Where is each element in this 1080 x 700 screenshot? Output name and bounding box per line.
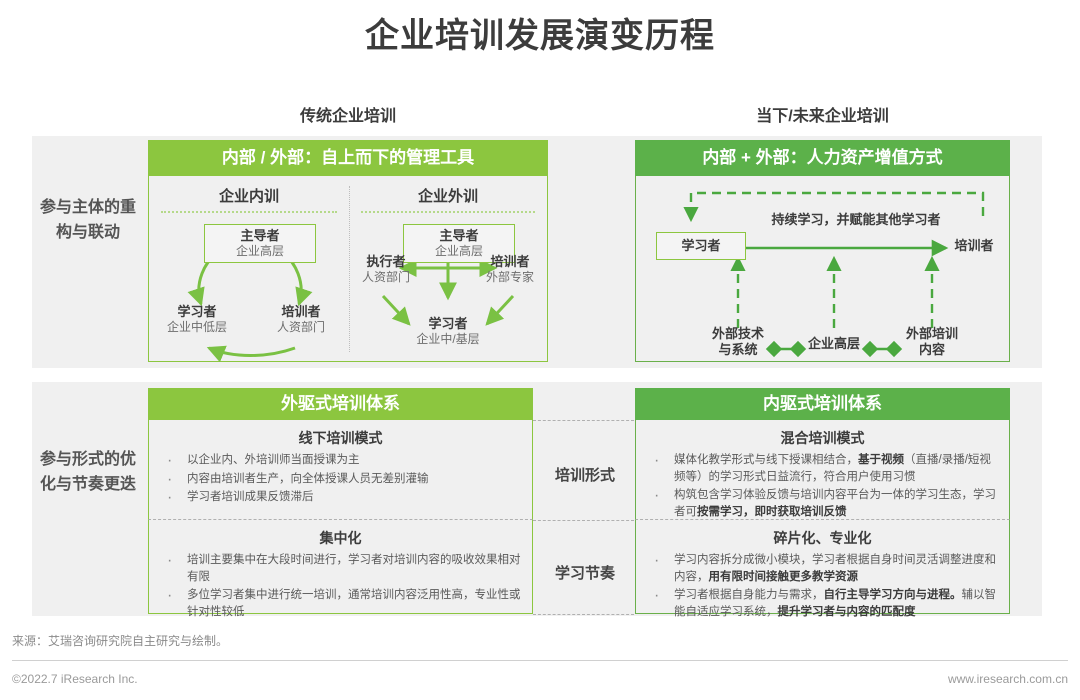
panel-future-training: 内部 + 外部：人力资产增值方式 — [635, 140, 1010, 362]
mid-divider-bottom — [533, 614, 634, 615]
bullet-list: 以企业内、外培训师当面授课为主内容由培训者生产，向全体授课人员无差别灌输学习者培… — [157, 452, 524, 506]
node-external-training-content: 外部培训 内容 — [892, 326, 972, 359]
cell-heading: 混合培训模式 — [644, 428, 1001, 448]
panel-traditional-training: 内部 / 外部：自上而下的管理工具 企业内训 — [148, 140, 548, 362]
cell-fragmented-specialized: 碎片化、专业化 学习内容拆分成微小模块，学习者根据自身时间灵活调整进度和内容，用… — [635, 520, 1010, 614]
bullet-item: 学习者根据自身能力与需求，自行主导学习方向与进程。辅以智能自适应学习系统，提升学… — [644, 587, 1001, 620]
source-note: 来源：艾瑞咨询研究院自主研究与绘制。 — [12, 632, 228, 649]
mid-label-learning-rhythm: 学习节奏 — [535, 562, 635, 583]
node-internal-trainer: 培训者 人资部门 — [257, 304, 345, 335]
node-enterprise-executives: 企业高层 — [794, 336, 874, 352]
annotation-continuous-learning: 持续学习，并赋能其他学习者 — [736, 212, 976, 228]
node-future-learner: 学习者 — [656, 232, 746, 260]
bullet-item: 学习内容拆分成微小模块，学习者根据自身时间灵活调整进度和内容，用有限时间接触更多… — [644, 552, 1001, 585]
internal-driven-header: 内驱式培训体系 — [635, 388, 1010, 420]
bullet-item: 构筑包含学习体验反馈与培训内容平台为一体的学习生态，学习者可按需学习，即时获取培… — [644, 487, 1001, 520]
dotted-separator — [161, 211, 337, 213]
infographic-page: 企业培训发展演变历程 传统企业培训 当下/未来企业培训 参与主体的重构与联动 参… — [0, 0, 1080, 700]
cell-heading: 线下培训模式 — [157, 428, 524, 448]
panel-internal-driven-system: 内驱式培训体系 混合培训模式 媒体化教学形式与线下授课相结合，基于视频（直播/录… — [635, 388, 1010, 614]
panel-future-header: 内部 + 外部：人力资产增值方式 — [635, 140, 1010, 176]
bullet-item: 媒体化教学形式与线下授课相结合，基于视频（直播/录播/短视频等）的学习形式日益流… — [644, 452, 1001, 485]
panel-future-body: 学习者 培训者 持续学习，并赋能其他学习者 外部技术 与系统 企业高层 外部培训… — [635, 176, 1010, 362]
bullet-item: 培训主要集中在大段时间进行，学习者对培训内容的吸收效果相对有限 — [157, 552, 524, 585]
node-external-learner: 学习者 企业中/基层 — [401, 316, 495, 347]
node-external-executor: 执行者 人资部门 — [349, 254, 423, 285]
mid-divider-top — [533, 420, 634, 421]
node-external-tech-systems: 外部技术 与系统 — [698, 326, 778, 359]
bullet-list: 媒体化教学形式与线下授课相结合，基于视频（直播/录播/短视频等）的学习形式日益流… — [644, 452, 1001, 521]
subdiagram-external-training: 企业外训 — [349, 176, 547, 362]
row-label-participants: 参与主体的重构与联动 — [40, 196, 136, 246]
panel-external-driven-system: 外驱式培训体系 线下培训模式 以企业内、外培训师当面授课为主内容由培训者生产，向… — [148, 388, 533, 614]
column-caption-future: 当下/未来企业培训 — [635, 102, 1010, 126]
website-link[interactable]: www.iresearch.com.cn — [948, 672, 1068, 686]
bullet-item: 以企业内、外培训师当面授课为主 — [157, 452, 524, 469]
cell-centralized: 集中化 培训主要集中在大段时间进行，学习者对培训内容的吸收效果相对有限多位学习者… — [148, 520, 533, 614]
cell-offline-training-mode: 线下培训模式 以企业内、外培训师当面授课为主内容由培训者生产，向全体授课人员无差… — [148, 420, 533, 520]
row-label-forms: 参与形式的优化与节奏更迭 — [40, 448, 136, 498]
cell-blended-training-mode: 混合培训模式 媒体化教学形式与线下授课相结合，基于视频（直播/录播/短视频等）的… — [635, 420, 1010, 520]
node-future-trainer: 培训者 — [942, 238, 1006, 254]
column-caption-traditional: 传统企业培训 — [148, 102, 548, 126]
cell-heading: 集中化 — [157, 528, 524, 548]
copyright-text: ©2022.7 iResearch Inc. — [12, 672, 138, 686]
subdiagram-external-title: 企业外训 — [349, 185, 547, 206]
bullet-item: 多位学习者集中进行统一培训，通常培训内容泛用性高，专业性或针对性较低 — [157, 587, 524, 620]
dotted-separator — [361, 211, 535, 213]
footer-divider — [12, 660, 1068, 661]
node-external-trainer: 培训者 外部专家 — [473, 254, 547, 285]
subdiagram-internal-training: 企业内训 主导者 企业高层 — [149, 176, 349, 362]
node-internal-leader: 主导者 企业高层 — [204, 224, 316, 263]
bullet-list: 学习内容拆分成微小模块，学习者根据自身时间灵活调整进度和内容，用有限时间接触更多… — [644, 552, 1001, 621]
bullet-item: 内容由培训者生产，向全体授课人员无差别灌输 — [157, 471, 524, 488]
external-driven-header: 外驱式培训体系 — [148, 388, 533, 420]
cell-heading: 碎片化、专业化 — [644, 528, 1001, 548]
mid-label-training-form: 培训形式 — [535, 464, 635, 485]
panel-traditional-header: 内部 / 外部：自上而下的管理工具 — [148, 140, 548, 176]
page-title: 企业培训发展演变历程 — [0, 8, 1080, 57]
mid-divider-middle — [533, 520, 634, 521]
subdiagram-internal-title: 企业内训 — [149, 185, 349, 206]
node-internal-learner: 学习者 企业中低层 — [153, 304, 241, 335]
bullet-item: 学习者培训成果反馈滞后 — [157, 489, 524, 506]
bullet-list: 培训主要集中在大段时间进行，学习者对培训内容的吸收效果相对有限多位学习者集中进行… — [157, 552, 524, 621]
panel-traditional-body: 企业内训 主导者 企业高层 — [148, 176, 548, 362]
